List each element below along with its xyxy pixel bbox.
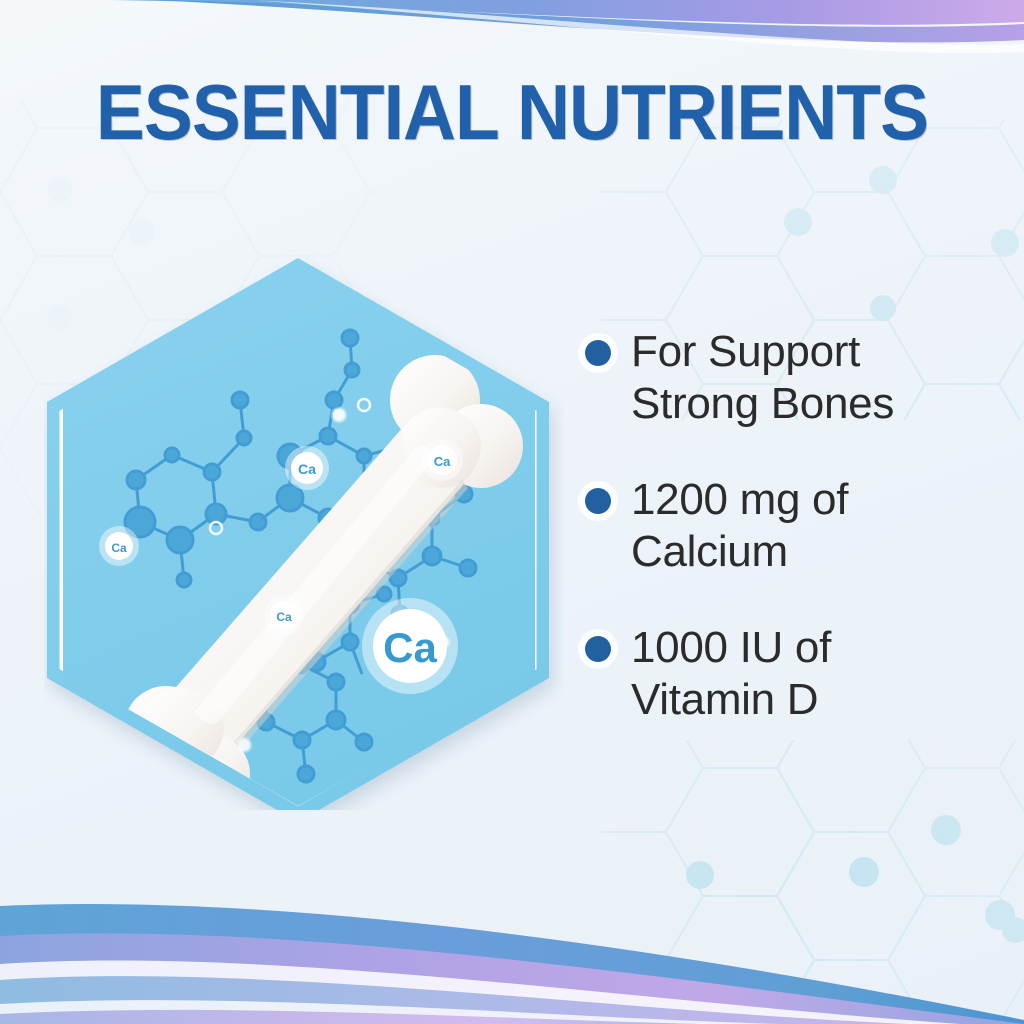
ca-badge-small-2: Ca: [421, 439, 463, 481]
ca-label-small: Ca: [434, 454, 451, 469]
list-item: For Support Strong Bones: [585, 326, 1015, 430]
nutrient-bullet-list: For Support Strong Bones 1200 mg of Calc…: [585, 326, 1015, 770]
ca-label-main: Ca: [383, 624, 437, 671]
list-item: 1000 IU of Vitamin D: [585, 622, 1015, 726]
bullet-dot-icon: [585, 474, 631, 526]
ca-badge-small-3: Ca: [99, 526, 139, 566]
bullet-dot-icon: [585, 326, 631, 378]
poster-canvas: ESSENTIAL NUTRIENTS: [0, 0, 1024, 1024]
bullet-line-1: For Support: [631, 327, 860, 376]
bullet-line-1: 1200 mg of: [631, 475, 848, 524]
ca-badge-small-4: Ca: [264, 595, 304, 635]
ca-label-small: Ca: [276, 610, 292, 624]
bullet-text: 1200 mg of Calcium: [631, 474, 848, 578]
bullet-dot-icon: [585, 622, 631, 674]
bullet-line-2: Calcium: [631, 527, 788, 576]
bullet-text: For Support Strong Bones: [631, 326, 894, 430]
wave-decoration-bottom: [0, 884, 1024, 1024]
bullet-text: 1000 IU of Vitamin D: [631, 622, 831, 726]
calcium-bone-hexagon-badge: Ca Ca Ca Ca Ca: [44, 250, 564, 810]
ca-badge-main: Ca: [362, 598, 458, 694]
bullet-line-2: Vitamin D: [631, 675, 818, 724]
ca-badge-small-1: Ca: [285, 446, 329, 490]
wave-decoration-top: [0, 0, 1024, 100]
list-item: 1200 mg of Calcium: [585, 474, 1015, 578]
ca-label-small: Ca: [111, 541, 127, 555]
ca-label-small: Ca: [298, 461, 316, 477]
bullet-line-1: 1000 IU of: [631, 623, 831, 672]
bullet-line-2: Strong Bones: [631, 379, 894, 428]
